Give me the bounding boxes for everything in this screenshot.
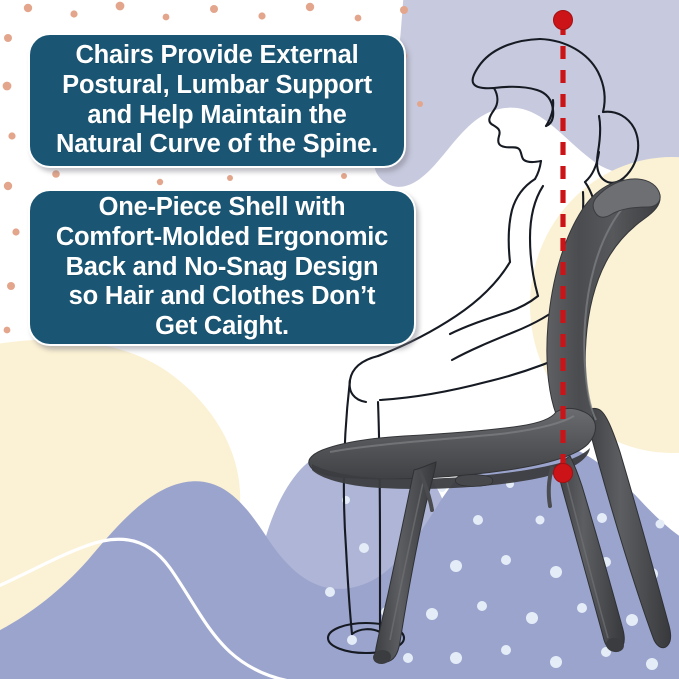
callout-postural-support[interactable]: Chairs Provide External Postural, Lumbar… [28,33,406,168]
callout-one-piece-shell-text: One-Piece Shell with Comfort-Molded Ergo… [56,193,388,342]
callout-group: Chairs Provide External Postural, Lumbar… [0,0,679,679]
callout-postural-support-text: Chairs Provide External Postural, Lumbar… [56,41,378,160]
illustration-canvas: Chairs Provide External Postural, Lumbar… [0,0,679,679]
callout-one-piece-shell[interactable]: One-Piece Shell with Comfort-Molded Ergo… [28,189,416,346]
